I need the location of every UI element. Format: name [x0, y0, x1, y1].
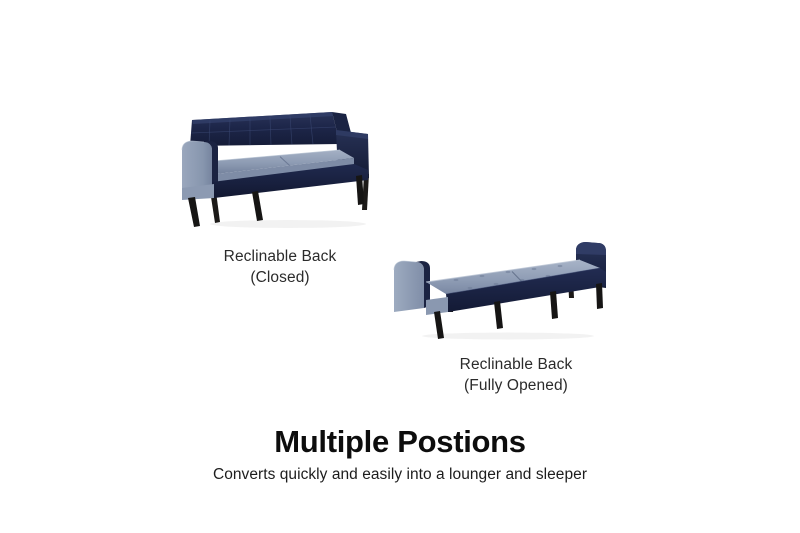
product-feature-graphic: Reclinable Back (Closed)	[0, 0, 800, 533]
sofa-opened-image	[390, 238, 622, 342]
caption-opened-line1: Reclinable Back	[460, 356, 573, 373]
sofa-backrest	[190, 112, 354, 146]
sofa-closed-image	[168, 100, 408, 230]
floor-shadow	[210, 220, 366, 228]
caption-opened-line2: (Fully Opened)	[236, 375, 796, 396]
subtitle: Converts quickly and easily into a loung…	[0, 466, 800, 484]
bed-arm-left	[394, 261, 430, 312]
caption-opened: Reclinable Back (Fully Opened)	[236, 354, 796, 396]
floor-shadow	[422, 333, 594, 340]
caption-closed-line1: Reclinable Back	[224, 248, 337, 265]
headline: Multiple Postions	[0, 424, 800, 460]
